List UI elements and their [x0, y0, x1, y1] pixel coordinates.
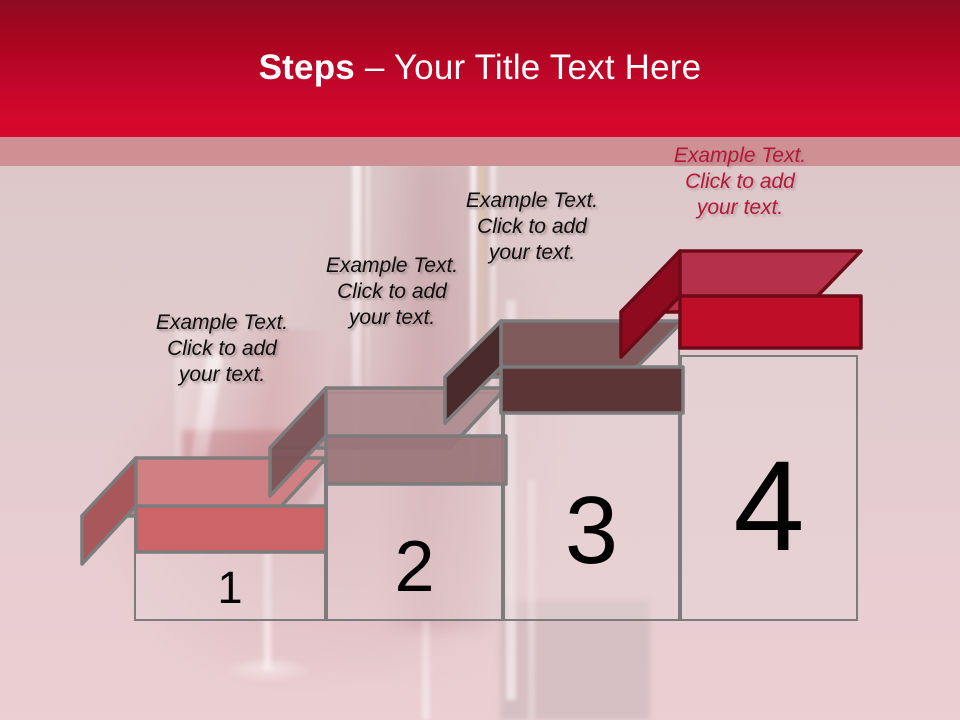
block-step-4-side — [621, 251, 680, 357]
block-step-4-front — [680, 296, 861, 348]
block-step-2-side — [270, 388, 326, 496]
step-number-4: 4 — [680, 443, 858, 571]
block-step-1-front — [136, 506, 326, 552]
block-step-3-front — [501, 367, 683, 413]
callout-label-step-4[interactable]: Example Text. Click to add your text. — [610, 143, 870, 221]
step-number-2: 2 — [326, 531, 503, 603]
block-step-2-front — [326, 436, 506, 484]
slide-canvas: Steps – Your Title Text Here 1 2 3 4 — [0, 0, 960, 720]
step-number-1: 1 — [134, 565, 326, 610]
podium-base-line — [134, 619, 858, 621]
block-step-1-side — [82, 458, 136, 564]
step-number-3: 3 — [503, 483, 680, 579]
block-step-3-side — [445, 321, 501, 423]
podium-diagram: 1 2 3 4 — [0, 0, 960, 720]
